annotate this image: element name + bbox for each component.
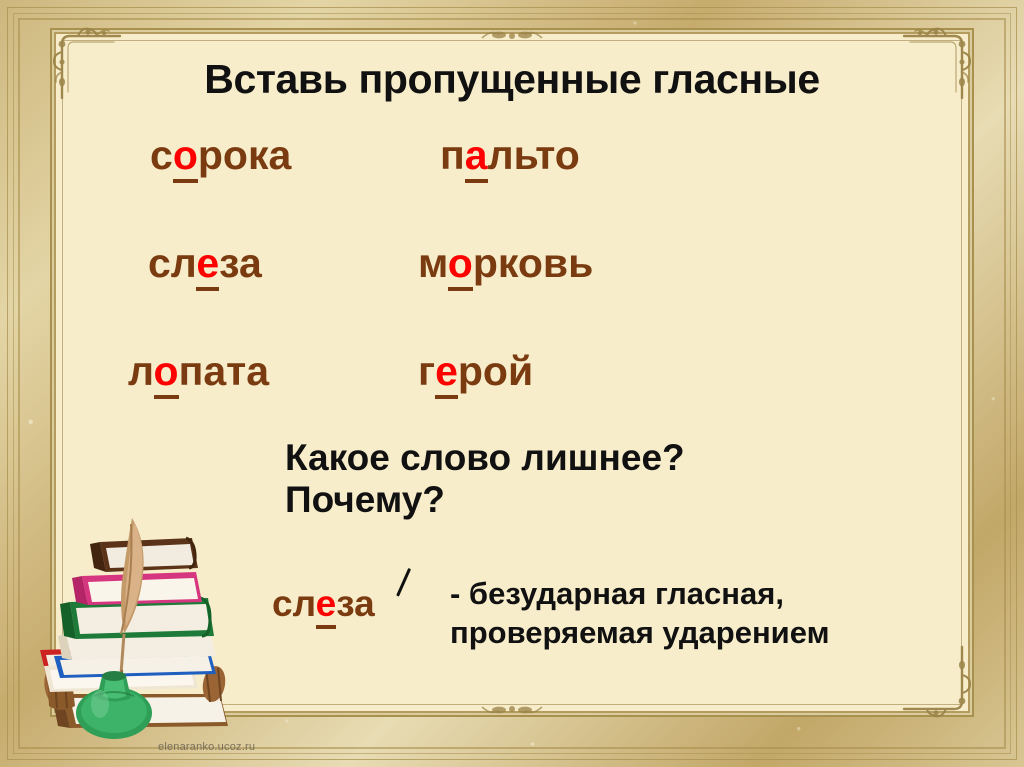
- word-suffix: за: [336, 583, 374, 624]
- watermark-text: elenaranko.ucoz.ru: [158, 741, 255, 753]
- slide-title: Вставь пропущенные гласные: [0, 56, 1024, 103]
- word-row: сорока пальто: [120, 132, 820, 240]
- missing-vowel[interactable]: е: [196, 240, 219, 291]
- book-top-brown: [90, 538, 198, 572]
- word-item-morkov[interactable]: морковь: [418, 240, 593, 287]
- word-prefix: г: [418, 348, 435, 394]
- slide-canvas: Вставь пропущенные гласные сорока пальто…: [0, 0, 1024, 767]
- word-row: слеза морковь: [120, 240, 820, 348]
- word-prefix: сл: [148, 240, 196, 286]
- word-suffix: пата: [179, 348, 269, 394]
- word-prefix: м: [418, 240, 448, 286]
- missing-vowel[interactable]: е: [435, 348, 458, 399]
- word-suffix: за: [219, 240, 262, 286]
- missing-vowel[interactable]: о: [173, 132, 198, 183]
- word-exercise-grid: сорока пальто слеза морковь лопата герой: [120, 132, 820, 456]
- missing-vowel[interactable]: а: [465, 132, 488, 183]
- stress-accent-mark-icon: [396, 568, 411, 597]
- word-suffix: льто: [488, 132, 580, 178]
- word-item-sleza[interactable]: слеза: [148, 240, 262, 287]
- word-item-lopata[interactable]: лопата: [128, 348, 269, 395]
- word-item-geroy[interactable]: герой: [418, 348, 533, 395]
- word-prefix: п: [440, 132, 465, 178]
- question-text: Какое слово лишнее? Почему?: [285, 437, 685, 521]
- missing-vowel[interactable]: е: [316, 583, 337, 629]
- missing-vowel[interactable]: о: [448, 240, 473, 291]
- word-suffix: рковь: [473, 240, 593, 286]
- word-suffix: рой: [458, 348, 533, 394]
- word-item-palto[interactable]: пальто: [440, 132, 580, 179]
- word-prefix: с: [150, 132, 173, 178]
- slide-content: Вставь пропущенные гласные сорока пальто…: [0, 0, 1024, 767]
- answer-word-sleza[interactable]: слеза: [272, 583, 375, 625]
- missing-vowel[interactable]: о: [154, 348, 179, 399]
- word-item-soroka[interactable]: сорока: [150, 132, 291, 179]
- word-suffix: рока: [198, 132, 291, 178]
- books-illustration: [14, 498, 284, 743]
- answer-explanation: - безударная гласная, проверяемая ударен…: [450, 575, 830, 653]
- word-prefix: л: [128, 348, 154, 394]
